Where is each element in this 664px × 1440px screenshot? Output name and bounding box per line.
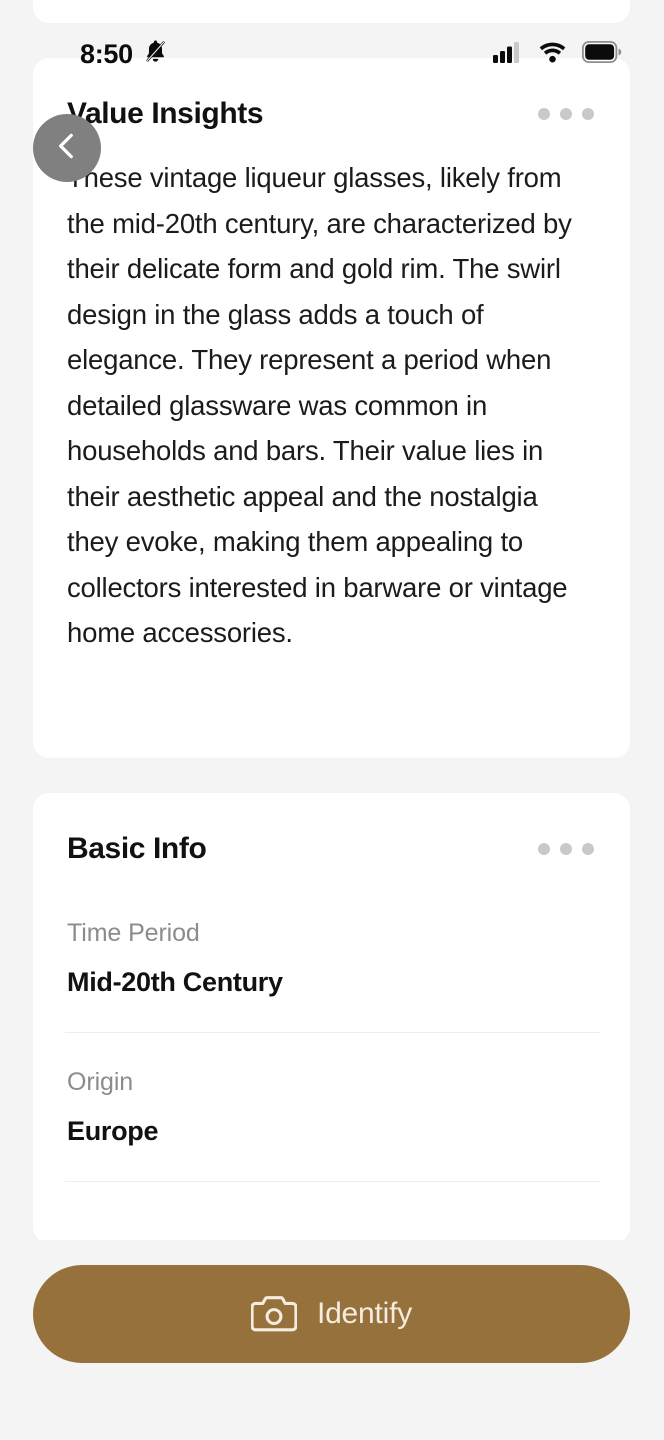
field-label: Origin [67,1068,594,1097]
value-insights-header: Value Insights [33,58,630,131]
identify-label: Identify [317,1297,412,1331]
basic-info-header: Basic Info [33,793,630,866]
divider [65,1181,600,1182]
more-options-icon[interactable] [538,108,594,120]
more-options-icon[interactable] [538,843,594,855]
field-origin: Origin Europe [33,1068,630,1147]
basic-info-card: Basic Info Time Period Mid-20th Century … [33,793,630,1243]
chevron-left-icon [50,129,84,168]
app-screen: 8:50 [0,0,664,1440]
field-value: Mid-20th Century [67,967,594,998]
field-value: Europe [67,1116,594,1147]
page-title: Value Insights [67,97,263,131]
basic-info-title: Basic Info [67,832,206,866]
identify-button[interactable]: Identify [33,1265,630,1363]
field-label: Time Period [67,919,594,948]
value-insights-card: Value Insights These vintage liqueur gla… [33,58,630,758]
previous-card-clipped [33,0,630,23]
field-time-period: Time Period Mid-20th Century [33,919,630,998]
back-button[interactable] [33,114,101,182]
value-insights-body: These vintage liqueur glasses, likely fr… [33,131,630,656]
camera-icon [251,1292,297,1337]
